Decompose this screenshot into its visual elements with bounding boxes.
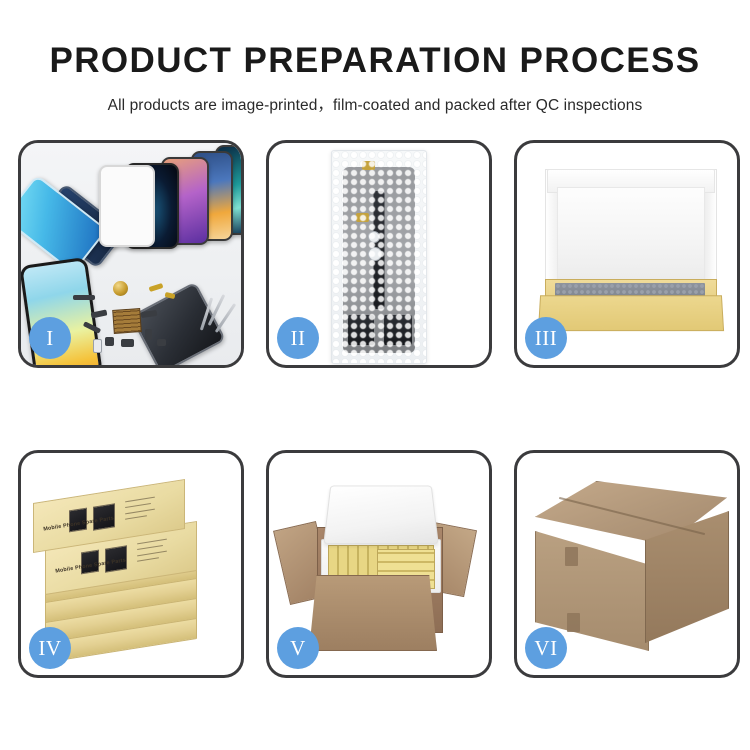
repair-tools-icon [197, 293, 237, 343]
step-badge-5: V [277, 627, 319, 669]
step-panel-2: II [266, 140, 492, 368]
process-steps-grid: I II [18, 140, 740, 678]
step-badge-6: VI [525, 627, 567, 669]
styrofoam-lid [323, 486, 439, 545]
step-panel-6: VI [514, 450, 740, 678]
page-subtitle: All products are image-printed，film-coat… [0, 82, 750, 115]
step-panel-5: V [266, 450, 492, 678]
gold-component-icon [113, 281, 128, 296]
step-badge-3: III [525, 317, 567, 359]
product-preparation-infographic: PRODUCT PREPARATION PROCESS All products… [0, 0, 750, 750]
header: PRODUCT PREPARATION PROCESS All products… [0, 0, 750, 115]
step-badge-4: IV [29, 627, 71, 669]
step-panel-4: Mobile Phone Spare Parts Mobile Phone Sp… [18, 450, 244, 678]
step-panel-1: I [18, 140, 244, 368]
step-panel-3: III [514, 140, 740, 368]
step-badge-2: II [277, 317, 319, 359]
step-badge-1: I [29, 317, 71, 359]
page-title: PRODUCT PREPARATION PROCESS [0, 0, 750, 82]
connector-array-icon [112, 308, 142, 334]
